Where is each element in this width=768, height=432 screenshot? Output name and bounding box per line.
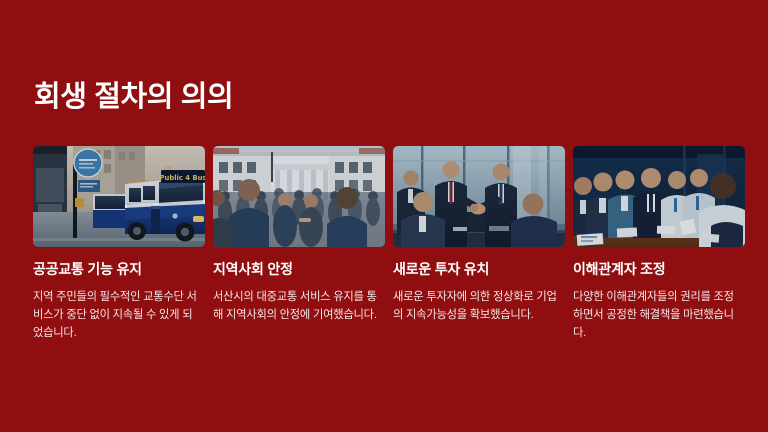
business-handshake-in-office-photo	[393, 146, 565, 247]
presentation-slide: 회생 절차의 의의	[0, 0, 768, 432]
card-item[interactable]: 지역사회 안정 서산시의 대중교통 서비스 유지를 통해 지역사회의 안정에 기…	[213, 146, 385, 342]
card-thumbnail	[573, 146, 745, 247]
card-row: Public 4 Bus 409	[33, 146, 733, 342]
card-item[interactable]: 새로운 투자 유치 새로운 투자자에 의한 정상화로 기업의 지속가능성을 확보…	[393, 146, 565, 342]
card-heading: 지역사회 안정	[213, 261, 385, 279]
card-thumbnail: Public 4 Bus 409	[33, 146, 205, 247]
card-heading: 공공교통 기능 유지	[33, 261, 205, 279]
card-item[interactable]: 이해관계자 조정 다양한 이해관계자들의 권리를 조정하면서 공정한 해결책을 …	[573, 146, 745, 342]
card-thumbnail	[393, 146, 565, 247]
card-body-text: 서산시의 대중교통 서비스 유지를 통해 지역사회의 안정에 기여했습니다.	[213, 288, 381, 325]
card-thumbnail	[213, 146, 385, 247]
card-item[interactable]: Public 4 Bus 409	[33, 146, 205, 342]
card-body-text: 지역 주민들의 필수적인 교통수단 서비스가 중단 없이 지속될 수 있게 되었…	[33, 288, 201, 343]
card-heading: 새로운 투자 유치	[393, 261, 565, 279]
stakeholders-meeting-at-table-photo	[573, 146, 745, 247]
card-body-text: 새로운 투자자에 의한 정상화로 기업의 지속가능성을 확보했습니다.	[393, 288, 561, 325]
page-title: 회생 절차의 의의	[34, 82, 233, 114]
card-body-text: 다양한 이해관계자들의 권리를 조정하면서 공정한 해결책을 마련했습니다.	[573, 288, 741, 343]
card-heading: 이해관계자 조정	[573, 261, 745, 279]
city-bus-at-stop-photo: Public 4 Bus 409	[33, 146, 205, 247]
community-crowd-in-town-square-photo	[213, 146, 385, 247]
